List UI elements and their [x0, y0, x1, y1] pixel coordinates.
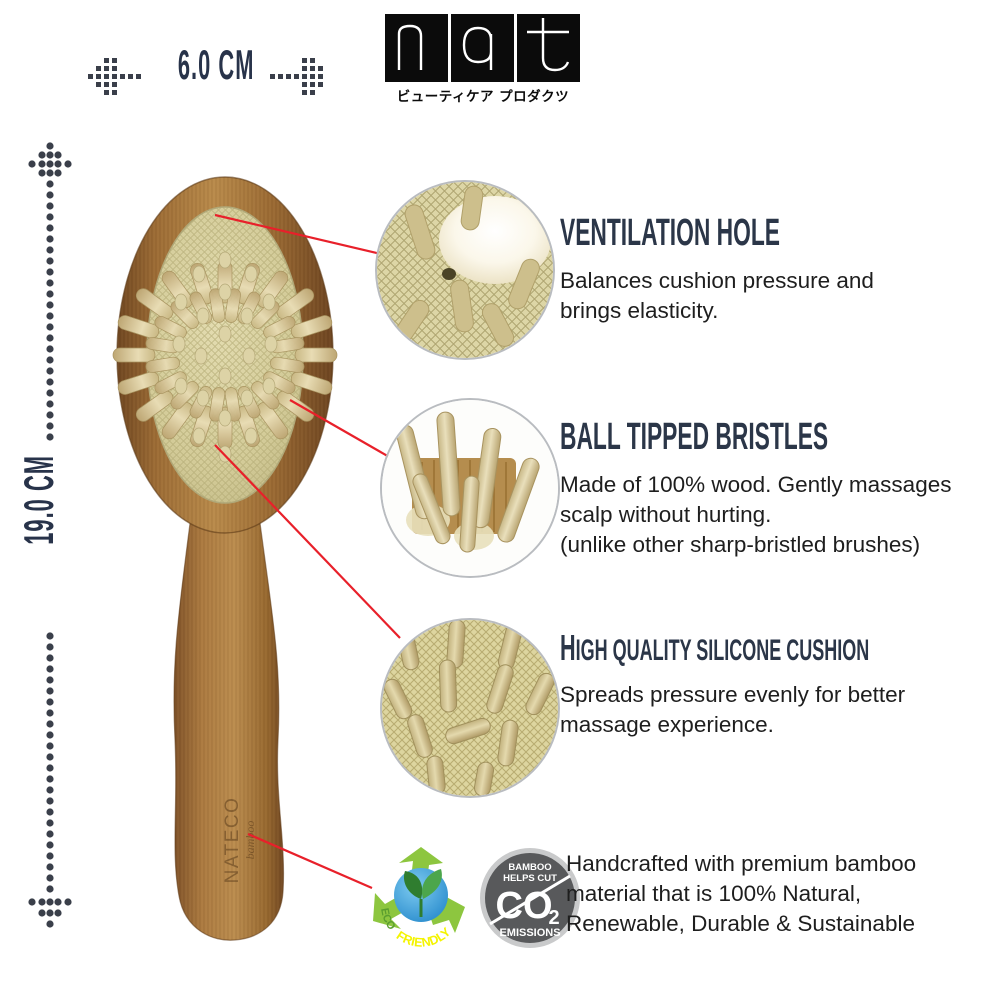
footer-body-line: Renewable, Durable & Sustainable [566, 909, 916, 939]
detail-photo-ball-tipped-bristles [380, 398, 560, 578]
eco-badge-text-friendly: FRIENDLY [394, 924, 454, 949]
footer-body-line: Handcrafted with premium bamboo [566, 849, 916, 879]
feature-ventilation-hole: VENTILATION HOLE Balances cushion pressu… [560, 214, 927, 326]
footer-bamboo-material-text: Handcrafted with premium bamboo material… [566, 849, 916, 939]
feature-body-line: Balances cushion pressure and [560, 266, 927, 296]
feature-silicone-cushion: HIGH QUALITY SILICONE CUSHION Spreads pr… [560, 630, 1000, 740]
feature-heading-silicone-cushion: HIGH QUALITY SILICONE CUSHION [560, 630, 869, 666]
feature-body-line: scalp without hurting. [560, 500, 1000, 530]
badge-eco-friendly: ECO FRIENDLY [365, 843, 477, 955]
feature-ball-tipped-bristles: BALL TIPPED BRISTLES Made of 100% wood. … [560, 418, 1000, 560]
feature-heading-ball-tipped-bristles: BALL TIPPED BRISTLES [560, 418, 828, 456]
co2-badge-line2: HELPS CUT [503, 873, 557, 884]
feature-body-ventilation-hole: Balances cushion pressure and brings ela… [560, 266, 927, 326]
feature-body-silicone-cushion: Spreads pressure evenly for better massa… [560, 680, 1000, 740]
co2-badge-line1: BAMBOO [508, 862, 551, 873]
leader-line-bristles [290, 400, 398, 462]
footer-body-line: material that is 100% Natural, [566, 879, 916, 909]
feature-body-ball-tipped-bristles: Made of 100% wood. Gently massages scalp… [560, 470, 1000, 560]
ventilation-hole-detail [442, 268, 456, 280]
leader-line-cushion [215, 445, 400, 638]
infographic-canvas: ビューティケア プロダクツ 6.0 CM [0, 0, 1000, 1000]
feature-heading-ventilation-hole: VENTILATION HOLE [560, 214, 780, 252]
leader-line-bamboo [248, 834, 372, 888]
feature-heading-rest: IGH QUALITY SILICONE CUSHION [576, 634, 870, 667]
feature-body-line: Spreads pressure evenly for better [560, 680, 1000, 710]
feature-body-line: massage experience. [560, 710, 1000, 740]
co2-badge-sub: 2 [548, 907, 559, 929]
feature-body-line: (unlike other sharp-bristled brushes) [560, 530, 1000, 560]
co2-badge-line3: EMISSIONS [499, 927, 560, 939]
feature-heading-lead: H [560, 627, 576, 668]
detail-photo-silicone-cushion [380, 618, 560, 798]
feature-body-line: Made of 100% wood. Gently massages [560, 470, 1000, 500]
detail-photo-ventilation-hole [375, 180, 555, 360]
leader-line-ventilation [215, 215, 398, 258]
feature-body-line: brings elasticity. [560, 296, 927, 326]
